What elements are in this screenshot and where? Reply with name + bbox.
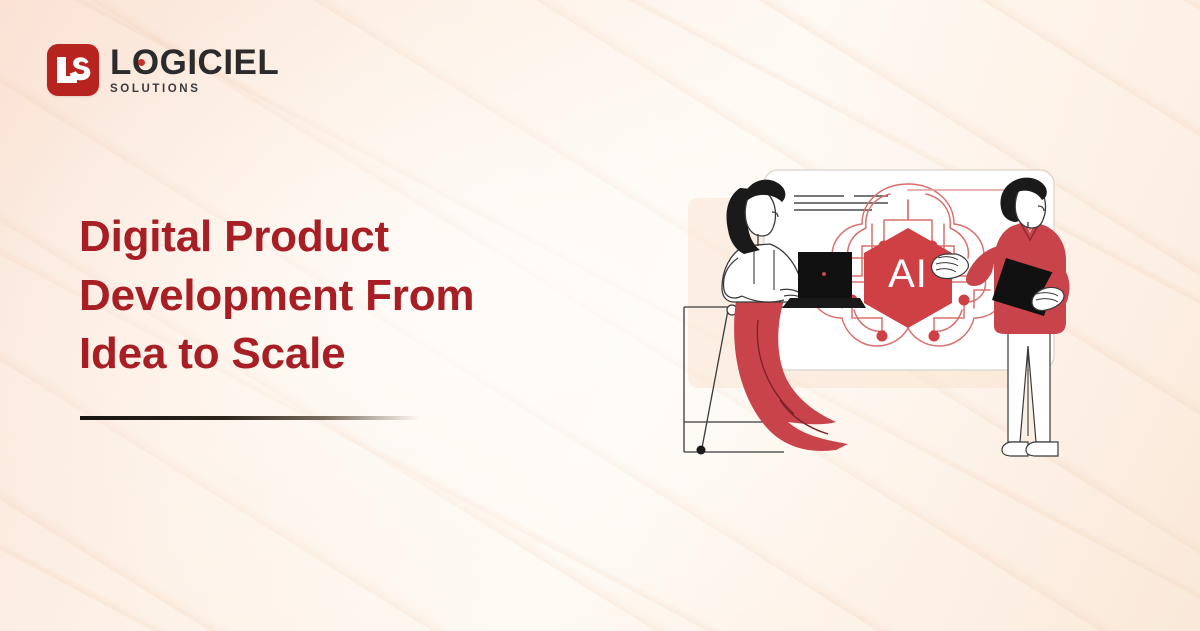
table-foot <box>697 446 706 455</box>
ai-label: AI <box>888 252 928 296</box>
hero-illustration: AI <box>676 150 1136 480</box>
logo-brand-name: LOGICIEL <box>110 45 279 80</box>
logo-mark-icon <box>47 44 99 96</box>
laptop-logo-icon <box>822 272 826 276</box>
circuit-node <box>877 331 888 342</box>
logo-tagline: SOLUTIONS <box>110 84 279 96</box>
hero-banner: LOGICIEL SOLUTIONS Digital Product Devel… <box>0 0 1200 631</box>
circuit-node <box>929 331 940 342</box>
circuit-node <box>927 241 938 252</box>
headline-line-1: Digital Product <box>79 208 599 267</box>
circuit-node <box>879 241 890 252</box>
headline-line-3: Idea to Scale <box>79 325 599 384</box>
logo-o-dot-icon <box>138 59 145 66</box>
man-shoe-right <box>1026 442 1058 456</box>
logo-brand-name-text: LOGICIEL <box>110 45 279 80</box>
brand-logo[interactable]: LOGICIEL SOLUTIONS <box>47 44 279 96</box>
title-divider <box>80 416 420 420</box>
page-title: Digital Product Development From Idea to… <box>79 208 599 384</box>
man-shoe-left <box>1002 442 1028 456</box>
man-trousers <box>1008 328 1050 442</box>
headline-line-2: Development From <box>79 267 599 326</box>
circuit-node <box>959 295 970 306</box>
logo-wordmark: LOGICIEL SOLUTIONS <box>110 45 279 96</box>
